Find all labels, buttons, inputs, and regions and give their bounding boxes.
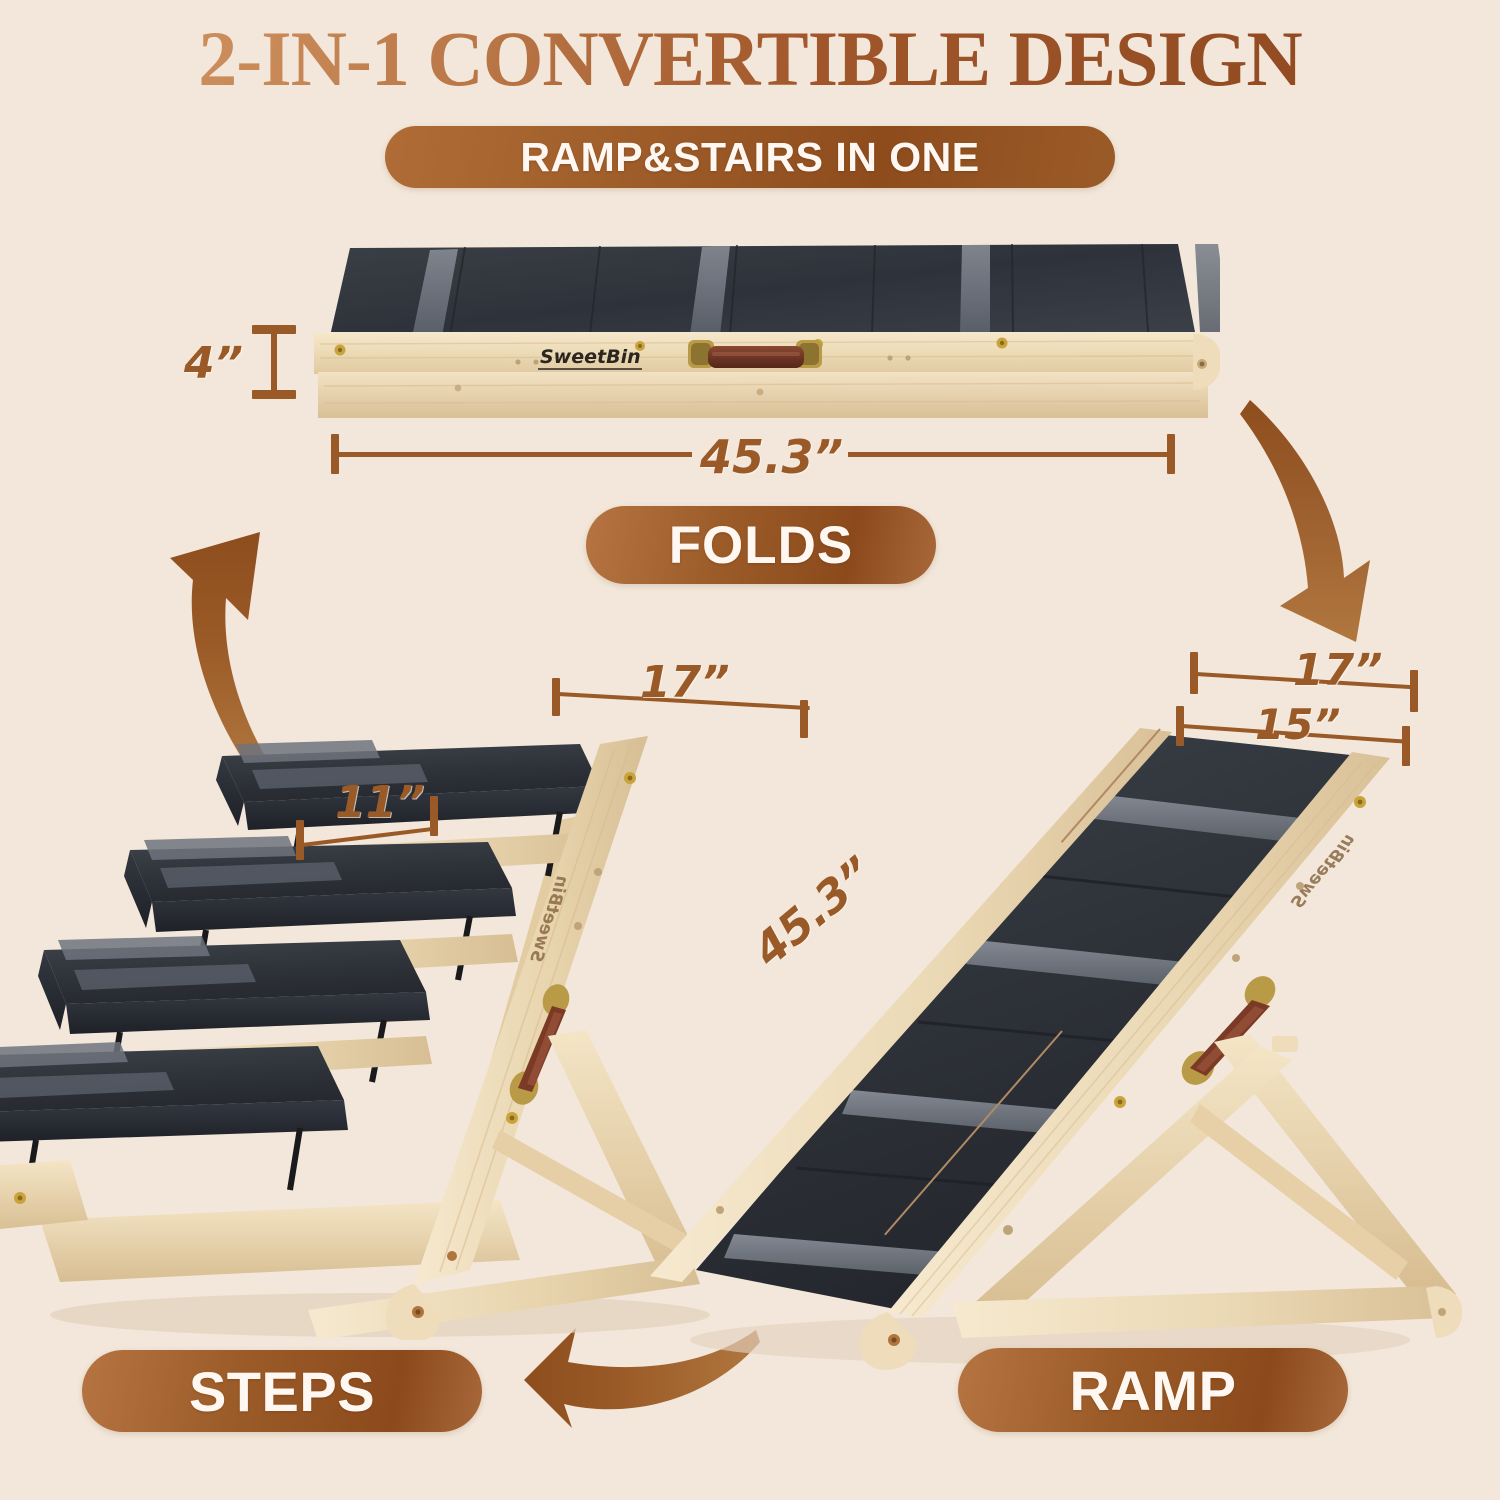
curved-arrow-down-right-icon	[1238, 392, 1413, 652]
dim-line-right	[848, 452, 1173, 457]
dim-cap-right	[430, 796, 438, 836]
dimension-label-height: 4”	[184, 338, 243, 389]
brand-logo-text: SweetBin	[540, 346, 641, 368]
dimension-label-length: 45.3”	[700, 430, 843, 484]
dim-cap-right	[1402, 726, 1410, 766]
dim-cap-bottom	[252, 390, 296, 399]
dimension-label-steps-depth: 11”	[335, 777, 425, 828]
dim-cap-left	[296, 820, 304, 860]
dim-cap-right	[1410, 670, 1418, 712]
dimension-label-ramp-surface: 15”	[1255, 700, 1341, 749]
step-tread-3	[124, 836, 516, 932]
dim-line-vertical	[271, 330, 277, 396]
ramp-badge: RAMP	[958, 1348, 1348, 1432]
page-title: 2-IN-1 CONVERTIBLE DESIGN	[0, 14, 1500, 104]
folds-badge: FOLDS	[586, 506, 936, 584]
folded-unit-illustration: SweetBin	[290, 240, 1220, 440]
steps-badge: STEPS	[82, 1350, 482, 1432]
subtitle-badge: RAMP&STAIRS IN ONE	[385, 126, 1115, 188]
dim-cap-left	[552, 678, 560, 716]
dim-line-left	[337, 452, 692, 457]
dimension-label-ramp-outer: 17”	[1293, 645, 1383, 696]
ramp-illustration: SweetBin	[600, 690, 1500, 1370]
step-tread-2	[38, 936, 430, 1034]
step-tread-bottom	[0, 1042, 348, 1142]
dim-cap-right	[1167, 434, 1175, 474]
infographic-canvas: 2-IN-1 CONVERTIBLE DESIGN RAMP&STAIRS IN…	[0, 0, 1500, 1500]
